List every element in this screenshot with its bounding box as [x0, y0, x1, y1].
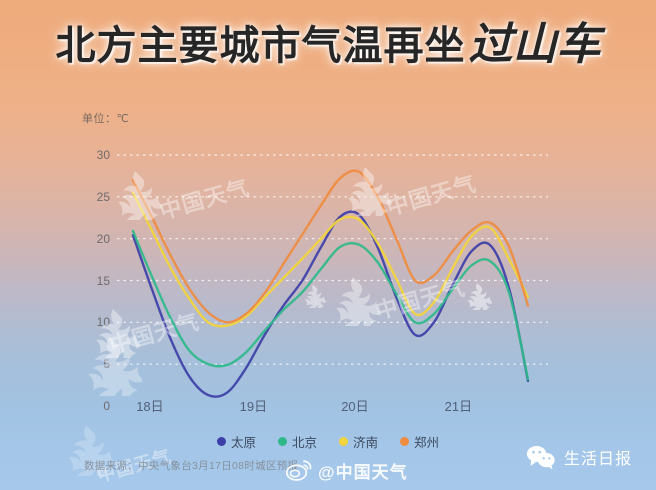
weibo-handle-text: @中国天气 — [318, 458, 408, 483]
x-axis-tick-label: 19日 — [240, 396, 267, 415]
legend-item[interactable]: 济南 — [339, 432, 378, 451]
legend-color-dot-icon — [400, 437, 409, 446]
wechat-attribution: 生活日报 — [526, 444, 632, 470]
y-axis-tick-label: 5 — [76, 357, 110, 371]
weibo-icon — [286, 460, 312, 482]
x-axis-tick-label: 21日 — [445, 396, 472, 415]
wechat-label-text: 生活日报 — [564, 445, 632, 469]
weather-infographic-poster: 北方主要城市气温再坐过山车 单位：℃ 302520151050 18日19日20… — [0, 0, 656, 490]
y-axis-tick-label: 30 — [76, 148, 110, 162]
legend-label: 北京 — [292, 432, 317, 451]
legend-color-dot-icon — [339, 437, 348, 446]
y-axis-tick-label: 15 — [76, 274, 110, 288]
legend-color-dot-icon — [278, 437, 287, 446]
y-axis-tick-label: 10 — [76, 315, 110, 329]
legend-item[interactable]: 北京 — [278, 432, 317, 451]
series-line-郑州 — [133, 171, 528, 323]
wechat-icon — [526, 444, 556, 470]
legend-label: 郑州 — [414, 432, 439, 451]
x-axis-tick-label: 18日 — [136, 396, 163, 415]
legend-label: 济南 — [353, 432, 378, 451]
x-axis-tick-label: 20日 — [341, 396, 368, 415]
data-source-text: 数据来源：中央气象台3月17日08时城区预报 — [84, 458, 298, 473]
y-axis-tick-label: 25 — [76, 190, 110, 204]
legend-item[interactable]: 郑州 — [400, 432, 439, 451]
y-axis-ticks: 302520151050 — [76, 0, 110, 490]
series-line-济南 — [133, 193, 528, 327]
weibo-attribution: @中国天气 — [286, 458, 408, 483]
legend-item[interactable]: 太原 — [217, 432, 256, 451]
legend-label: 太原 — [231, 432, 256, 451]
y-axis-tick-label: 20 — [76, 232, 110, 246]
legend-color-dot-icon — [217, 437, 226, 446]
y-axis-tick-label: 0 — [76, 399, 110, 413]
